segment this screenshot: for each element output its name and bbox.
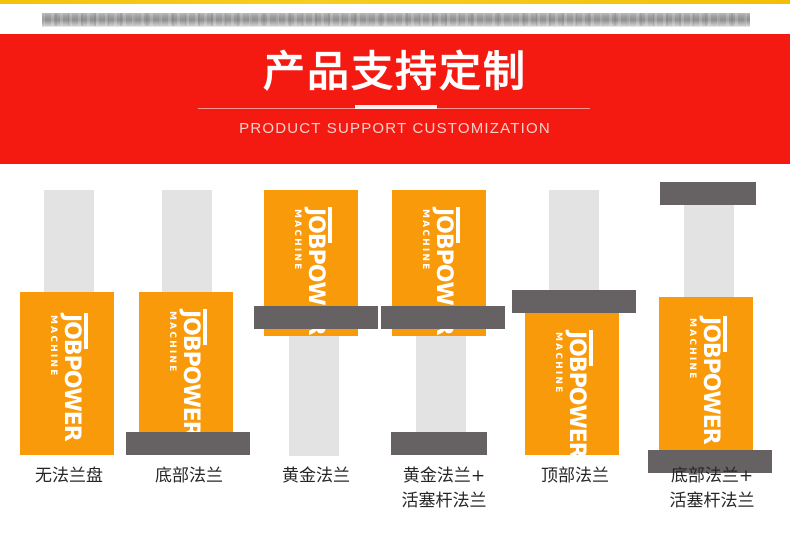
logo-secondary-text: MACHINE bbox=[686, 318, 698, 444]
cylinder-body: JOBPOWER MACHINE bbox=[20, 292, 114, 455]
product-variant-gold-plus-rod-flange[interactable]: JOBPOWER MACHINE 黄金法兰+ 活塞杆法兰 bbox=[381, 164, 507, 464]
piston-rod bbox=[289, 336, 339, 456]
logo-bar-icon bbox=[589, 330, 593, 366]
product-variant-no-flange[interactable]: JOBPOWER MACHINE 无法兰盘 bbox=[14, 164, 124, 464]
product-caption: 顶部法兰 bbox=[510, 464, 640, 489]
banner: 产品支持定制 PRODUCT SUPPORT CUSTOMIZATION bbox=[0, 34, 790, 164]
logo-secondary-text: MACHINE bbox=[552, 332, 564, 458]
banner-title: 产品支持定制 bbox=[0, 46, 790, 98]
jobpower-logo: JOBPOWER MACHINE bbox=[552, 331, 587, 458]
middle-flange bbox=[381, 306, 505, 329]
rod-end-flange bbox=[660, 182, 756, 205]
logo-primary-text: JOBPOWER bbox=[60, 314, 82, 441]
jobpower-logo: JOBPOWER MACHINE bbox=[686, 317, 721, 444]
metal-texture-bar bbox=[42, 13, 750, 26]
cylinder-body: JOBPOWER MACHINE bbox=[139, 292, 233, 432]
product-variant-bottom-plus-rod-flange[interactable]: JOBPOWER MACHINE 底部法兰+ 活塞杆法兰 bbox=[648, 164, 776, 464]
logo-primary-text: JOBPOWER bbox=[179, 310, 201, 437]
bottom-flange bbox=[126, 432, 250, 455]
top-flange bbox=[512, 290, 636, 313]
piston-rod bbox=[44, 190, 94, 294]
jobpower-logo: JOBPOWER MACHINE bbox=[166, 310, 201, 437]
logo-bar-icon bbox=[723, 316, 727, 352]
product-caption: 黄金法兰 bbox=[251, 464, 381, 489]
cylinder-body: JOBPOWER MACHINE bbox=[659, 297, 753, 455]
cylinder-body: JOBPOWER MACHINE bbox=[525, 313, 619, 455]
banner-divider-accent bbox=[355, 105, 437, 109]
product-variants-row: JOBPOWER MACHINE 无法兰盘 JOBPOWER MACHINE 底… bbox=[0, 164, 790, 541]
logo-primary-text: JOBPOWER bbox=[565, 331, 587, 458]
product-caption: 黄金法兰+ 活塞杆法兰 bbox=[373, 464, 515, 514]
piston-rod bbox=[684, 205, 734, 299]
jobpower-logo: JOBPOWER MACHINE bbox=[47, 314, 82, 441]
product-customization-page: 产品支持定制 PRODUCT SUPPORT CUSTOMIZATION JOB… bbox=[0, 0, 790, 541]
rod-end-flange bbox=[391, 432, 487, 455]
logo-secondary-text: MACHINE bbox=[47, 315, 59, 441]
product-caption: 底部法兰+ 活塞杆法兰 bbox=[641, 464, 783, 514]
logo-secondary-text: MACHINE bbox=[166, 311, 178, 437]
product-caption: 无法兰盘 bbox=[4, 464, 134, 489]
product-variant-bottom-flange[interactable]: JOBPOWER MACHINE 底部法兰 bbox=[126, 164, 252, 464]
product-variant-top-flange[interactable]: JOBPOWER MACHINE 顶部法兰 bbox=[512, 164, 638, 464]
logo-bar-icon bbox=[328, 207, 332, 243]
gold-accent-bar bbox=[0, 0, 790, 4]
product-variant-gold-flange[interactable]: JOBPOWER MACHINE 黄金法兰 bbox=[256, 164, 376, 464]
piston-rod bbox=[549, 190, 599, 294]
middle-flange bbox=[254, 306, 378, 329]
banner-subtitle: PRODUCT SUPPORT CUSTOMIZATION bbox=[0, 120, 790, 137]
piston-rod bbox=[162, 190, 212, 294]
product-caption: 底部法兰 bbox=[124, 464, 254, 489]
logo-bar-icon bbox=[84, 313, 88, 349]
piston-rod bbox=[416, 336, 466, 434]
logo-bar-icon bbox=[456, 207, 460, 243]
logo-primary-text: JOBPOWER bbox=[699, 317, 721, 444]
logo-bar-icon bbox=[203, 309, 207, 345]
